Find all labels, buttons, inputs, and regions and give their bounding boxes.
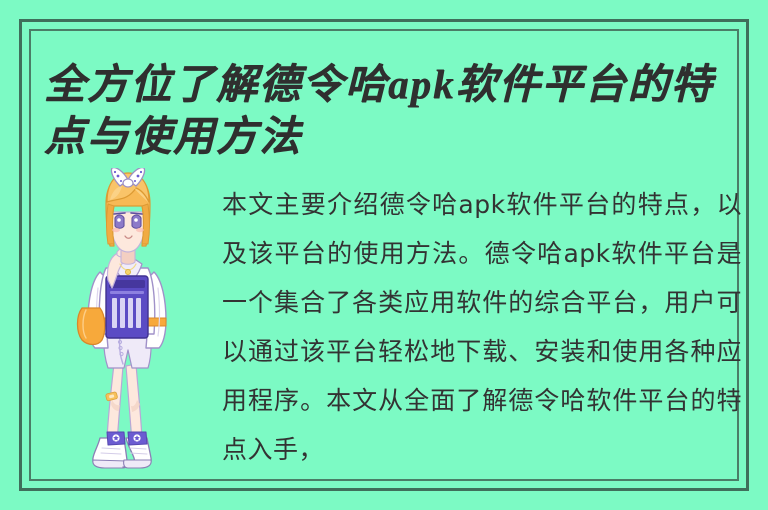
orange-pouch (78, 308, 105, 345)
poster-canvas: 全方位了解德令哈apk软件平台的特点与使用方法 本文主要介绍德令哈apk软件平台… (0, 0, 768, 510)
article-body-text: 本文主要介绍德令哈apk软件平台的特点，以及该平台的使用方法。德令哈apk软件平… (222, 180, 742, 474)
anime-girl-illustration: 428 (62, 168, 202, 480)
legs (105, 364, 142, 442)
page-title: 全方位了解德令哈apk软件平台的特点与使用方法 (44, 58, 734, 162)
sneakers (93, 432, 151, 468)
